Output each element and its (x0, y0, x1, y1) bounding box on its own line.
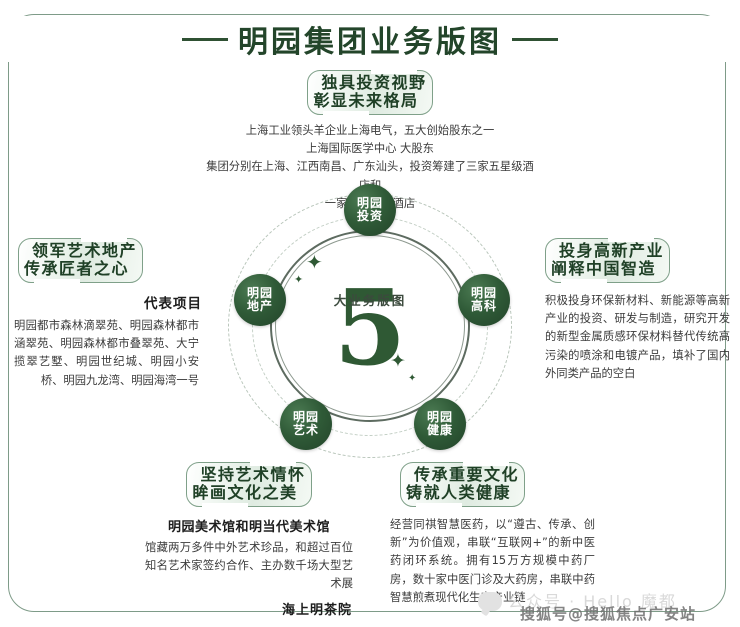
banner-lines: 传承重要文化 铸就人类健康 (406, 466, 519, 502)
node-line-2: 健康 (427, 424, 453, 437)
right-paragraph: 积极投身环保新材料、新能源等高新产业的投资、研发与制造，研究开发的新型金属质感环… (545, 292, 730, 383)
bottomleft-paragraph: 馆藏两万多件中外艺术珍品，和超过百位知名艺术家签约合作、主办数千场大型艺术展 (145, 539, 353, 594)
bottomleft-tail: 海上明茶院 (282, 599, 360, 618)
node-realestate[interactable]: 明园 地产 (234, 274, 286, 326)
banner-line-2: 彰显未来格局 (313, 92, 426, 110)
node-line-1: 明园 (427, 411, 453, 424)
banner-line-1: 坚持艺术情怀 (192, 466, 305, 484)
sparkle-icon: ✦ (306, 252, 323, 272)
banner-lines: 领军艺术地产 传承匠者之心 (24, 242, 137, 278)
banner-lines: 投身高新产业 阐释中国智造 (551, 242, 664, 278)
node-line-1: 明园 (471, 287, 497, 300)
banner-line-1: 领军艺术地产 (24, 242, 137, 260)
title-rule-right (512, 38, 558, 41)
node-hitech[interactable]: 明园 高科 (458, 274, 510, 326)
banner-left: 领军艺术地产 传承匠者之心 (18, 238, 143, 283)
section-bottomright-culture-health: 传承重要文化 铸就人类健康 经营同祺智慧医药，以“遵古、传承、创新”为价值观，串… (390, 462, 605, 607)
bottomleft-lead: 明园美术馆和明当代美术馆 (168, 516, 330, 535)
core-number-wrap: 5 (270, 230, 470, 422)
banner-line-1: 传承重要文化 (406, 466, 519, 484)
banner-cut-bottom-left (323, 111, 369, 118)
banner-cut-bottom-left (561, 279, 607, 286)
left-paragraph: 明园都市森林滴翠苑、明园森林都市涵翠苑、明园森林都市叠翠苑、大宁揽翠艺墅、明园世… (14, 317, 199, 390)
section-right-hitech-industry: 投身高新产业 阐释中国智造 积极投身环保新材料、新能源等高新产业的投资、研发与制… (545, 238, 735, 383)
node-line-2: 投资 (357, 210, 383, 223)
page-title: 明园集团业务版图 (238, 17, 502, 61)
page-title-bar: 明园集团业务版图 (0, 16, 740, 62)
node-investment[interactable]: 明园 投资 (344, 184, 396, 236)
banner-line-2: 阐释中国智造 (551, 260, 664, 278)
banner-top: 独具投资视野 彰显未来格局 (307, 70, 432, 115)
title-rule-left (182, 38, 228, 41)
banner-right: 投身高新产业 阐释中国智造 (545, 238, 670, 283)
node-line-1: 明园 (357, 197, 383, 210)
banner-bottom-right: 传承重要文化 铸就人类健康 (400, 462, 525, 507)
node-line-2: 地产 (247, 300, 273, 313)
banner-line-2: 传承匠者之心 (24, 260, 137, 278)
sparkle-icon: ✦ (294, 274, 303, 285)
node-line-1: 明园 (247, 287, 273, 300)
sparkle-icon: ✦ (408, 374, 416, 384)
infographic-root: 明园集团业务版图 独具投资视野 彰显未来格局 上海工业领头羊企业上海电气，五大创… (0, 0, 740, 627)
banner-line-2: 眸画文化之美 (192, 484, 305, 502)
watermark-sohu: 搜狐号@搜狐焦点广安站 (520, 603, 696, 624)
node-line-2: 艺术 (293, 424, 319, 437)
top-line-1: 上海工业领头羊企业上海电气，五大创始股东之一 (205, 122, 535, 140)
section-left-art-realestate: 领军艺术地产 传承匠者之心 代表项目 明园都市森林滴翠苑、明园森林都市涵翠苑、明… (14, 238, 204, 390)
banner-lines: 独具投资视野 彰显未来格局 (313, 74, 426, 110)
banner-line-2: 铸就人类健康 (406, 484, 519, 502)
banner-bottom-left: 坚持艺术情怀 眸画文化之美 (186, 462, 311, 507)
node-line-2: 高科 (471, 300, 497, 313)
node-art[interactable]: 明园 艺术 (280, 398, 332, 450)
banner-lines: 坚持艺术情怀 眸画文化之美 (192, 466, 305, 502)
banner-cut-bottom-left (416, 503, 462, 510)
business-map-diagram: 5 大业务版图 ✦ ✦ ✦ ✦ 明园 投资 明园 高科 明园 健康 明园 艺术 … (218, 186, 522, 466)
banner-line-1: 投身高新产业 (551, 242, 664, 260)
node-line-1: 明园 (293, 411, 319, 424)
section-bottomleft-art-passion: 坚持艺术情怀 眸画文化之美 明园美术馆和明当代美术馆 馆藏两万多件中外艺术珍品，… (138, 462, 360, 618)
wechat-icon (478, 592, 502, 611)
banner-cut-bottom-left (34, 279, 80, 286)
banner-cut-bottom-left (202, 503, 248, 510)
banner-line-1: 独具投资视野 (313, 74, 426, 92)
left-subheading: 代表项目 (14, 292, 202, 312)
node-health[interactable]: 明园 健康 (414, 398, 466, 450)
top-line-2: 上海国际医学中心 大股东 (205, 140, 535, 158)
sparkle-icon: ✦ (390, 352, 406, 371)
